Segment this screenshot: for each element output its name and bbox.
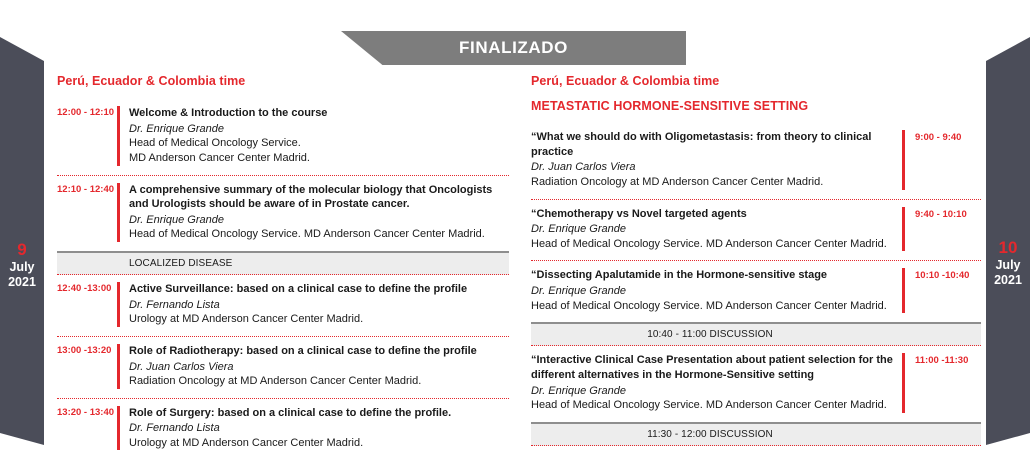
session-time: 13:20 - 13:40 [57, 406, 117, 450]
session-title: “Chemotherapy vs Novel targeted agents [531, 207, 894, 222]
session-title: “Interactive Clinical Case Presentation … [531, 353, 894, 382]
day-number: 9 [8, 240, 36, 260]
day-year-label: 2021 [8, 275, 36, 290]
session-accent-bar [117, 183, 120, 243]
session-time: 10:10 -10:40 [915, 268, 981, 313]
session-accent-bar [117, 106, 120, 166]
day-month-label: July [994, 258, 1022, 273]
discussion-band-label: 10:40 - 11:00 DISCUSSION [647, 329, 773, 340]
session-time: 12:00 - 12:10 [57, 106, 117, 166]
status-banner-label: FINALIZADO [459, 38, 568, 58]
session-time: 12:40 -13:00 [57, 282, 117, 327]
session-affiliation: Radiation Oncology at MD Anderson Cancer… [531, 175, 894, 190]
section-band-label: LOCALIZED DISEASE [129, 258, 232, 269]
day-tab-july-10[interactable]: 10 July 2021 [986, 37, 1030, 445]
session-affiliation: Urology at MD Anderson Cancer Center Mad… [129, 312, 505, 327]
session-speaker: Dr. Enrique Grande [531, 384, 894, 399]
discussion-band: 11:30 - 12:00 DISCUSSION [531, 422, 981, 446]
session-body: Active Surveillance: based on a clinical… [129, 282, 509, 327]
session-row[interactable]: 12:40 -13:00 Active Surveillance: based … [57, 275, 509, 337]
day-tab-july-9[interactable]: 9 July 2021 [0, 37, 44, 445]
session-row[interactable]: “What we should do with Oligometastasis:… [531, 123, 981, 200]
session-title: Role of Surgery: based on a clinical cas… [129, 406, 505, 421]
session-time: 11:00 -11:30 [915, 353, 981, 413]
session-body: Welcome & Introduction to the course Dr.… [129, 106, 509, 166]
session-time: 13:00 -13:20 [57, 344, 117, 389]
session-speaker: Dr. Fernando Lista [129, 421, 505, 436]
session-row[interactable]: “Interactive Clinical Case Presentation … [531, 346, 981, 422]
session-time: 9:00 - 9:40 [915, 130, 981, 190]
day-tab-left-inner: 9 July 2021 [8, 240, 36, 290]
session-row[interactable]: 13:00 -13:20 Role of Radiotherapy: based… [57, 337, 509, 399]
session-row[interactable]: “Chemotherapy vs Novel targeted agents D… [531, 200, 981, 262]
session-title: Role of Radiotherapy: based on a clinica… [129, 344, 505, 359]
session-affiliation: MD Anderson Cancer Center Madrid. [129, 151, 505, 166]
session-time: 12:10 - 12:40 [57, 183, 117, 243]
session-speaker: Dr. Juan Carlos Viera [531, 160, 894, 175]
session-title: Active Surveillance: based on a clinical… [129, 282, 505, 297]
day-tab-right-inner: 10 July 2021 [994, 238, 1022, 288]
session-accent-bar [117, 282, 120, 327]
discussion-band-label: 11:30 - 12:00 DISCUSSION [647, 429, 773, 440]
session-body: A comprehensive summary of the molecular… [129, 183, 509, 243]
section-heading-metastatic: METASTATIC HORMONE-SENSITIVE SETTING [531, 99, 981, 113]
session-speaker: Dr. Enrique Grande [129, 213, 505, 228]
agenda-page: FINALIZADO 9 July 2021 10 July 2021 Perú… [0, 0, 1030, 450]
session-speaker: Dr. Enrique Grande [531, 284, 894, 299]
session-title: A comprehensive summary of the molecular… [129, 183, 505, 212]
discussion-band: 10:40 - 11:00 DISCUSSION [531, 322, 981, 346]
session-accent-bar [117, 406, 120, 450]
session-affiliation: Head of Medical Oncology Service. MD And… [129, 227, 505, 242]
session-affiliation: Head of Medical Oncology Service. MD And… [531, 237, 894, 252]
session-speaker: Dr. Enrique Grande [531, 222, 894, 237]
session-affiliation: Urology at MD Anderson Cancer Center Mad… [129, 436, 505, 450]
session-affiliation: Head of Medical Oncology Service. [129, 136, 505, 151]
session-row[interactable]: 12:00 - 12:10 Welcome & Introduction to … [57, 99, 509, 176]
column-timezone-title: Perú, Ecuador & Colombia time [531, 74, 981, 88]
session-body: “Chemotherapy vs Novel targeted agents D… [531, 207, 902, 252]
session-body: “Interactive Clinical Case Presentation … [531, 353, 902, 413]
session-speaker: Dr. Enrique Grande [129, 122, 505, 137]
session-accent-bar [902, 353, 905, 413]
session-body: “What we should do with Oligometastasis:… [531, 130, 902, 190]
session-accent-bar [902, 130, 905, 190]
column-timezone-title: Perú, Ecuador & Colombia time [57, 74, 509, 88]
session-body: “Dissecting Apalutamide in the Hormone-s… [531, 268, 902, 313]
session-row[interactable]: “Dissecting Apalutamide in the Hormone-s… [531, 261, 981, 322]
day-year-label: 2021 [994, 273, 1022, 288]
session-title: Welcome & Introduction to the course [129, 106, 505, 121]
session-body: Role of Surgery: based on a clinical cas… [129, 406, 509, 450]
session-row[interactable]: 12:10 - 12:40 A comprehensive summary of… [57, 176, 509, 252]
section-band-localized-disease: LOCALIZED DISEASE [57, 251, 509, 275]
session-speaker: Dr. Fernando Lista [129, 298, 505, 313]
session-accent-bar [902, 207, 905, 252]
session-title: “What we should do with Oligometastasis:… [531, 130, 894, 159]
status-banner: FINALIZADO [341, 31, 686, 65]
session-row[interactable]: 13:20 - 13:40 Role of Surgery: based on … [57, 399, 509, 450]
session-accent-bar [902, 268, 905, 313]
session-speaker: Dr. Juan Carlos Viera [129, 360, 505, 375]
agenda-column-day9: Perú, Ecuador & Colombia time 12:00 - 12… [57, 74, 509, 450]
day-month-label: July [8, 260, 36, 275]
session-affiliation: Radiation Oncology at MD Anderson Cancer… [129, 374, 505, 389]
agenda-column-day10: Perú, Ecuador & Colombia time METASTATIC… [531, 74, 981, 446]
session-time: 9:40 - 10:10 [915, 207, 981, 252]
session-title: “Dissecting Apalutamide in the Hormone-s… [531, 268, 894, 283]
session-affiliation: Head of Medical Oncology Service. MD And… [531, 299, 894, 314]
session-affiliation: Head of Medical Oncology Service. MD And… [531, 398, 894, 413]
session-body: Role of Radiotherapy: based on a clinica… [129, 344, 509, 389]
day-number: 10 [994, 238, 1022, 258]
session-accent-bar [117, 344, 120, 389]
